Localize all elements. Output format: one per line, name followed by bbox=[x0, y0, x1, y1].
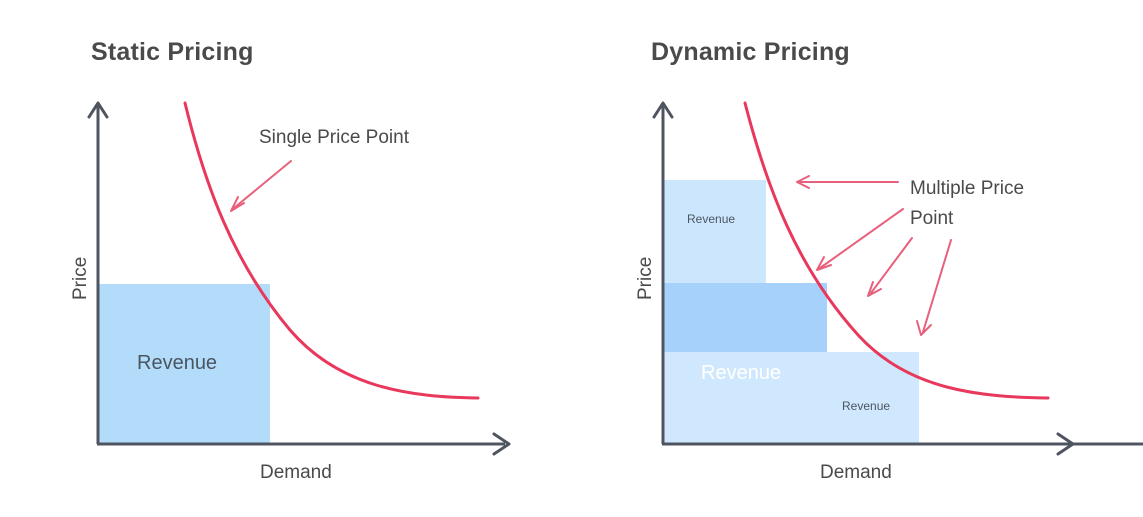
revenue-rect-dynamic-1 bbox=[664, 180, 766, 283]
annotation-arrow-line-static bbox=[234, 161, 291, 208]
panel-static-pricing: Static Pricing Revenue Single Price Poin… bbox=[0, 0, 572, 517]
annotation-arrow-line-3 bbox=[871, 238, 912, 293]
annotation-arrowhead-2 bbox=[817, 257, 831, 270]
annotation-arrow-line-2 bbox=[820, 209, 903, 268]
panel-dynamic-pricing: Dynamic Pricing bbox=[571, 0, 1143, 517]
revenue-rect-static bbox=[99, 284, 270, 444]
revenue-rect-dynamic-2 bbox=[664, 283, 827, 352]
revenue-rect-dynamic-3 bbox=[664, 352, 919, 444]
x-axis-label-static: Demand bbox=[260, 462, 332, 484]
y-axis-label-static: Price bbox=[70, 257, 92, 300]
annotation-dynamic: Multiple Price Point bbox=[910, 174, 1024, 234]
x-axis-label-dynamic: Demand bbox=[820, 462, 892, 484]
annotation-arrow-line-4 bbox=[923, 240, 951, 332]
annotation-static: Single Price Point bbox=[259, 123, 409, 153]
y-axis-label-dynamic: Price bbox=[635, 257, 657, 300]
pricing-comparison-diagram: Static Pricing Revenue Single Price Poin… bbox=[0, 0, 1143, 517]
